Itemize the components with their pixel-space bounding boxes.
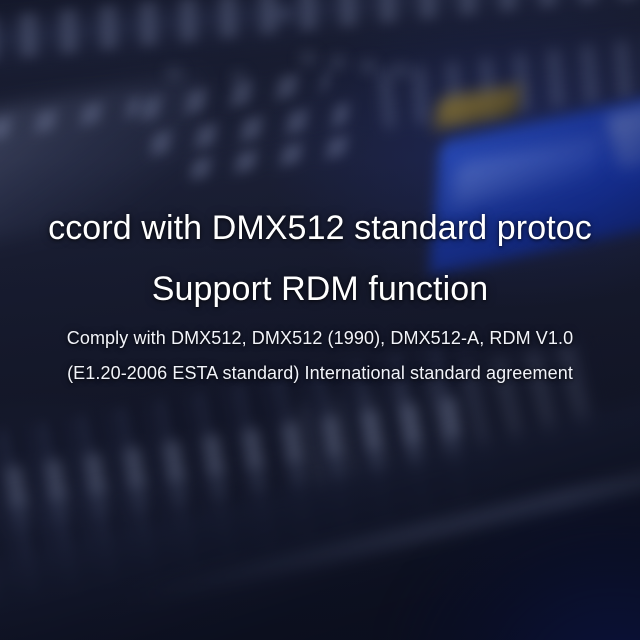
- product-feature-slide: ccord with DMX512 standard protoc Suppor…: [0, 0, 640, 640]
- background-vignette-overlay: [0, 0, 640, 640]
- console-background-image: [0, 0, 640, 640]
